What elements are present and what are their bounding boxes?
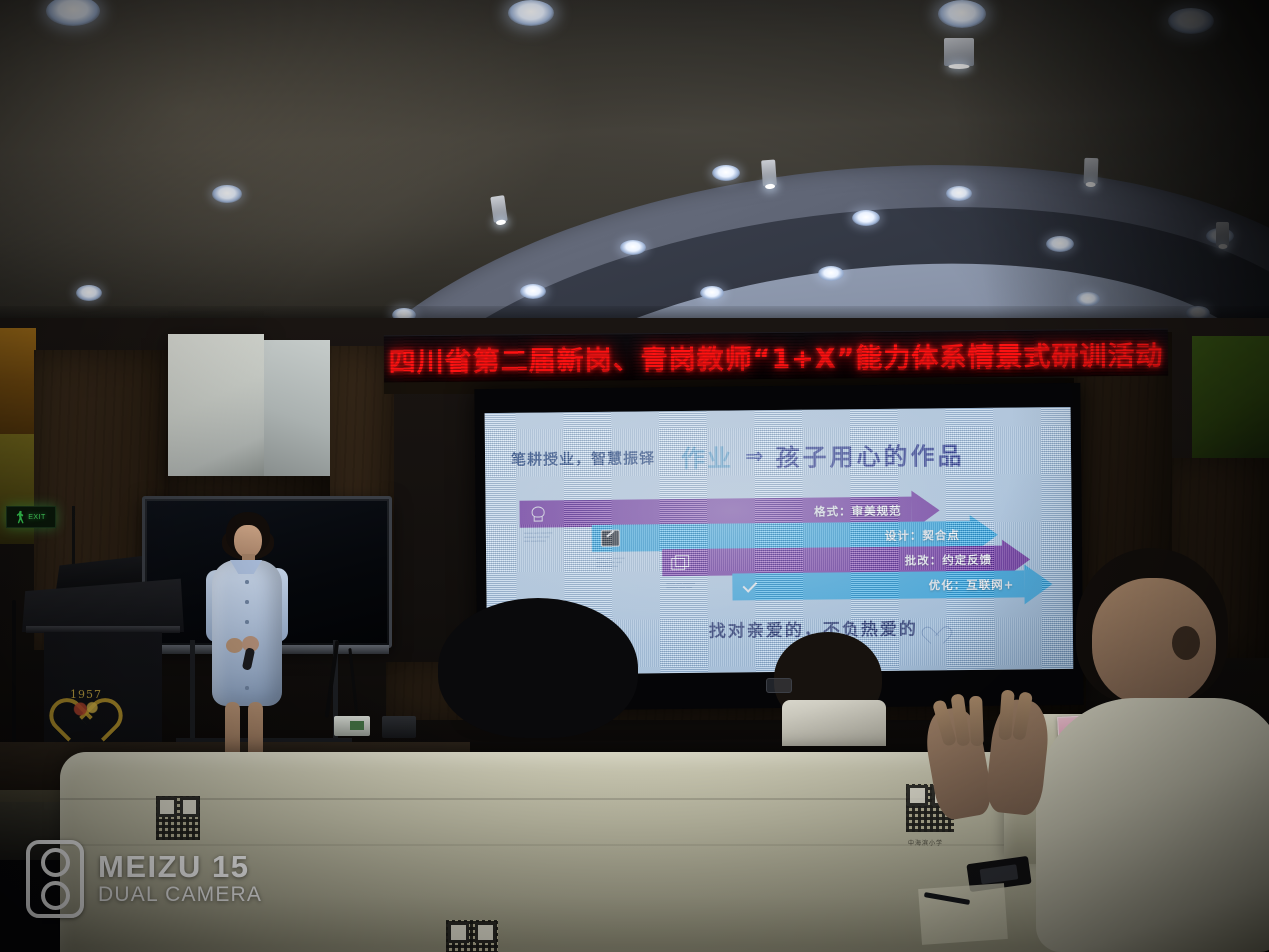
camera-watermark: MEIZU 15 DUAL CAMERA — [26, 840, 262, 918]
audience-shirt — [782, 700, 886, 746]
slide-headline-right: 孩子用心的作品 — [775, 436, 964, 473]
slide-headline: 作业 ⇒ 孩子用心的作品 — [681, 436, 965, 474]
slide-caption-text: ▬▬▬ ▬▬ ▬▬▬▬▬▬▬▬ ▬▬ ▬▬▬▬ ▬▬▬▬▬ — [524, 529, 644, 542]
ceiling — [0, 0, 1269, 340]
wall-panel-white-side — [264, 340, 330, 480]
slide-headline-arrow: ⇒ — [745, 443, 764, 469]
watermark-line2: DUAL CAMERA — [98, 883, 262, 907]
heart-logo-icon: 1957 — [56, 676, 116, 724]
slide-caption-text: ▬▬▬ ▬▬ ▬▬▬▬▬▬▬▬ ▬▬ ▬▬▬▬ ▬▬▬▬▬ — [596, 555, 716, 568]
downlight — [700, 286, 724, 300]
downlight — [818, 266, 844, 281]
attendee-shirt — [1036, 698, 1269, 952]
arrow-label: 批改：约定反馈 — [905, 551, 993, 568]
exit-sign-label: EXIT — [28, 514, 46, 521]
heart-outline-icon — [926, 617, 948, 636]
stage-equipment-white — [334, 716, 370, 736]
led-banner: 四川省第二届新岗、青岗教师“1+X”能力体系情景式研训活动 — [384, 329, 1168, 383]
downlight — [508, 0, 554, 26]
led-scanlines — [384, 330, 1168, 383]
watermark-line1: MEIZU 15 — [98, 851, 262, 884]
wall-green-panel — [1192, 336, 1269, 464]
arrow-label: 格式：审美规范 — [814, 502, 902, 519]
podium-top — [22, 570, 184, 632]
eyeglasses — [766, 678, 792, 693]
wall-orange-strip — [0, 328, 36, 446]
seat-qr-caption: 中海滨小学 — [908, 838, 943, 847]
running-man-icon — [16, 511, 25, 524]
wall-panel-white — [168, 334, 264, 476]
slide-subtitle: 笔耕授业，智慧振铎 — [511, 447, 655, 470]
arrow-label: 设计：契合点 — [885, 527, 960, 544]
exit-sign: EXIT — [6, 506, 56, 528]
seat-qr-code — [446, 920, 498, 952]
ceiling-shadow — [849, 0, 1269, 340]
downlight — [520, 284, 546, 299]
downlight — [712, 165, 740, 181]
spotlight — [761, 160, 777, 187]
foreground-attendee — [1046, 548, 1269, 952]
finger — [969, 696, 984, 746]
downlight — [76, 285, 102, 301]
presenter — [200, 512, 292, 762]
audience-head — [438, 598, 638, 738]
slide-caption-text: ▬▬▬ ▬▬ ▬▬▬▬▬▬▬▬ ▬▬ ▬▬ — [666, 580, 786, 589]
bulb-icon — [529, 506, 546, 521]
dual-camera-icon — [26, 840, 84, 918]
slide-arrow-chart: 格式：审美规范 设计：契合点 批改：约定反馈 — [520, 495, 1041, 608]
arrow-label: 优化：互联网+ — [929, 576, 1015, 593]
downlight — [620, 240, 646, 255]
attendee-ear — [1172, 626, 1200, 660]
photo-scene: EXIT 四川省第二届新岗、青岗教师“1+X”能力体系情景式研训活动 笔耕授业，… — [0, 0, 1269, 952]
downlight — [212, 185, 242, 203]
seat-qr-code — [156, 796, 200, 840]
stage-equipment-dark — [382, 716, 416, 738]
slide-headline-left: 作业 — [681, 438, 733, 474]
